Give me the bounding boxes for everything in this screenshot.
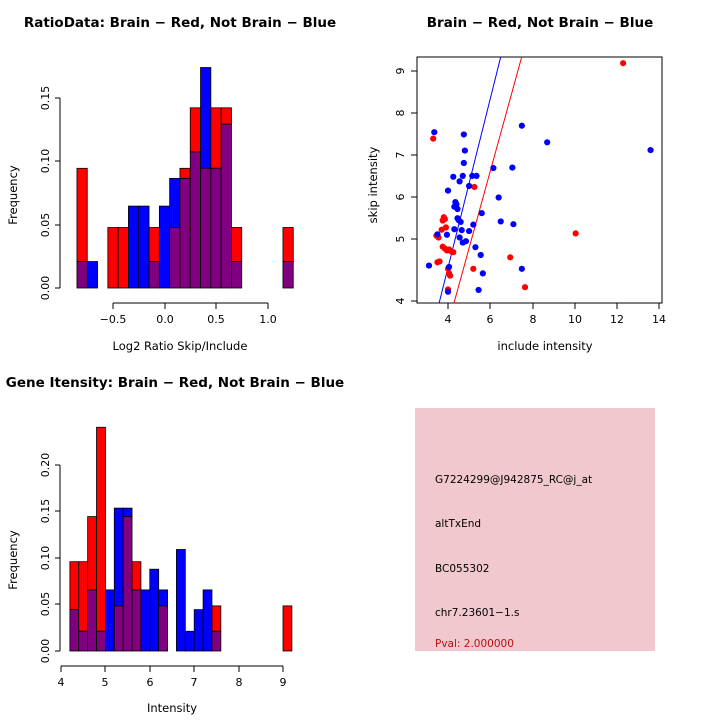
panel-scatter: Brain − Red, Not Brain − Blue 4 5 6 7 8 … — [360, 0, 720, 360]
histogram-bar-overlap — [77, 262, 87, 288]
gene-ytick-1: 0.05 — [39, 592, 52, 617]
histogram-bar-overlap — [114, 606, 123, 651]
regression-line — [453, 53, 523, 306]
histogram-bar — [79, 562, 88, 632]
histogram-bar-overlap — [180, 178, 190, 288]
scatter-ytick-8: 8 — [394, 110, 407, 117]
histogram-bar — [123, 508, 132, 516]
probe-id-text: G7224299@J942875_RC@j_at — [435, 474, 592, 486]
figure-page: RatioData: Brain − Red, Not Brain − Blue… — [0, 0, 720, 720]
histogram-bar — [128, 206, 138, 288]
scatter-point — [439, 227, 445, 233]
histogram-bar-overlap — [221, 124, 231, 288]
scatter-point — [509, 165, 515, 171]
gene-ytick-2: 0.10 — [39, 546, 52, 571]
scatter-point — [480, 270, 486, 276]
gene-histogram-ylabel: Frequency — [6, 530, 20, 590]
scatter-point — [434, 259, 440, 265]
histogram-bar — [212, 606, 221, 631]
scatter-ytick-7: 7 — [394, 152, 407, 159]
gene-xtick-8: 8 — [236, 676, 243, 689]
scatter-point — [475, 287, 481, 293]
scatter-ylabel: skip intensity — [366, 146, 380, 223]
histogram-bar-overlap — [79, 631, 88, 651]
gene-histogram-bars — [70, 427, 292, 651]
scatter-point — [466, 228, 472, 234]
gene-histogram-y-axis: 0.00 0.05 0.10 0.15 0.20 Frequency — [6, 453, 60, 664]
ratio-histogram-title: RatioData: Brain − Red, Not Brain − Blue — [24, 15, 336, 31]
histogram-bar-overlap — [170, 228, 180, 288]
scatter-xtick-10: 10 — [568, 313, 582, 326]
ratio-histogram-bars — [77, 68, 293, 289]
histogram-bar-overlap — [283, 262, 293, 288]
scatter-xtick-4: 4 — [445, 313, 452, 326]
scatter-point — [466, 183, 472, 189]
scatter-point — [454, 206, 460, 212]
pval-text: Pval: 2.000000 — [435, 638, 514, 650]
gene-ytick-3: 0.15 — [39, 499, 52, 524]
scatter-point — [460, 173, 466, 179]
histogram-bar — [114, 508, 123, 606]
scatter-point — [470, 266, 476, 272]
histogram-bar — [139, 206, 149, 288]
scatter-point — [461, 160, 467, 166]
scatter-point — [462, 147, 468, 153]
histogram-bar — [231, 228, 241, 262]
scatter-point — [459, 227, 465, 233]
gene-ytick-4: 0.20 — [39, 453, 52, 478]
scatter-point — [498, 218, 504, 224]
ratio-histogram-ylabel: Frequency — [6, 165, 20, 225]
histogram-bar — [118, 228, 128, 288]
histogram-bar — [141, 590, 150, 651]
scatter-point — [522, 284, 528, 290]
scatter-point — [478, 252, 484, 258]
scatter-xtick-12: 12 — [610, 313, 624, 326]
scatter-ytick-5: 5 — [394, 236, 407, 243]
histogram-bar — [283, 606, 292, 651]
histogram-bar — [149, 228, 159, 262]
histogram-bar-overlap — [159, 606, 168, 651]
ratio-histogram-x-axis: −0.5 0.0 0.5 1.0 Log2 Ratio Skip/Include — [100, 303, 277, 353]
ratio-histogram-svg: RatioData: Brain − Red, Not Brain − Blue… — [0, 0, 360, 360]
histogram-bar — [180, 168, 190, 178]
scatter-xlabel: include intensity — [497, 339, 592, 353]
scatter-point — [450, 174, 456, 180]
gene-histogram-xlabel: Intensity — [147, 701, 197, 715]
histogram-bar — [132, 562, 141, 590]
histogram-bar — [194, 610, 203, 651]
scatter-title: Brain − Red, Not Brain − Blue — [427, 15, 653, 31]
scatter-point — [431, 129, 437, 135]
scatter-ytick-6: 6 — [394, 194, 407, 201]
ratio-xtick-0: −0.5 — [100, 313, 127, 326]
histogram-bar — [190, 108, 200, 152]
histogram-bar-overlap — [88, 590, 97, 651]
histogram-bar — [88, 517, 97, 590]
scatter-point — [460, 239, 466, 245]
histogram-bar-overlap — [190, 152, 200, 288]
histogram-bar — [77, 168, 87, 261]
ratio-ytick-1: 0.05 — [39, 213, 52, 238]
histogram-bar-overlap — [97, 631, 106, 651]
scatter-data-layer — [426, 53, 654, 306]
histogram-bar — [70, 562, 79, 610]
scatter-point — [507, 254, 513, 260]
scatter-point — [647, 147, 653, 153]
histogram-bar — [201, 68, 211, 169]
histogram-bar — [283, 228, 293, 262]
scatter-ytick-4: 4 — [394, 298, 407, 305]
panel-ratio-histogram: RatioData: Brain − Red, Not Brain − Blue… — [0, 0, 360, 360]
scatter-point — [445, 188, 451, 194]
scatter-point — [458, 219, 464, 225]
histogram-bar-overlap — [70, 610, 79, 651]
scatter-point — [519, 123, 525, 129]
histogram-bar-overlap — [212, 631, 221, 651]
scatter-point — [519, 266, 525, 272]
gene-histogram-title: Gene Itensity: Brain − Red, Not Brain − … — [6, 375, 344, 391]
scatter-point — [510, 221, 516, 227]
scatter-point — [457, 178, 463, 184]
ratio-ytick-3: 0.15 — [39, 86, 52, 111]
scatter-point — [450, 249, 456, 255]
gene-xtick-7: 7 — [191, 676, 198, 689]
scatter-point — [445, 289, 451, 295]
scatter-point — [434, 231, 440, 237]
event-type-text: altTxEnd — [435, 518, 481, 530]
histogram-bar — [150, 569, 159, 651]
ratio-xtick-3: 1.0 — [259, 313, 277, 326]
ratio-ytick-0: 0.00 — [39, 276, 52, 301]
scatter-point — [426, 262, 432, 268]
scatter-point — [444, 232, 450, 238]
histogram-bar — [185, 631, 194, 651]
histogram-bar — [221, 108, 231, 124]
ratio-histogram-y-axis: 0.00 0.05 0.10 0.15 Frequency — [6, 86, 60, 301]
gene-xtick-6: 6 — [147, 676, 154, 689]
scatter-point — [573, 230, 579, 236]
histogram-bar — [176, 549, 185, 651]
gene-xtick-5: 5 — [102, 676, 109, 689]
gene-xtick-9: 9 — [280, 676, 287, 689]
gene-histogram-svg: Gene Itensity: Brain − Red, Not Brain − … — [0, 360, 360, 720]
histogram-bar — [159, 206, 169, 288]
histogram-bar-overlap — [201, 168, 211, 288]
scatter-point — [461, 131, 467, 137]
histogram-bar — [211, 108, 221, 168]
gene-histogram-x-axis: 4 5 6 7 8 9 Intensity — [58, 666, 287, 715]
scatter-point — [471, 184, 477, 190]
ratio-histogram-xlabel: Log2 Ratio Skip/Include — [113, 339, 248, 353]
scatter-xtick-8: 8 — [530, 313, 537, 326]
histogram-bar — [105, 590, 114, 651]
gene-info-panel: G7224299@J942875_RC@j_at altTxEnd BC0553… — [415, 408, 655, 651]
ratio-ytick-2: 0.10 — [39, 149, 52, 174]
ratio-xtick-1: 0.0 — [156, 313, 174, 326]
histogram-bar — [97, 427, 106, 631]
scatter-point — [473, 173, 479, 179]
scatter-point — [440, 217, 446, 223]
gene-ytick-0: 0.00 — [39, 639, 52, 664]
histogram-bar — [170, 178, 180, 227]
histogram-bar-overlap — [132, 590, 141, 651]
locus-text: chr7.23601−1.s — [435, 607, 519, 619]
scatter-xtick-14: 14 — [652, 313, 666, 326]
histogram-bar-overlap — [123, 517, 132, 651]
ratio-xtick-2: 0.5 — [207, 313, 225, 326]
scatter-point — [446, 264, 452, 270]
histogram-bar-overlap — [211, 168, 221, 288]
scatter-plot-frame — [417, 57, 662, 303]
scatter-point — [451, 226, 457, 232]
scatter-svg: Brain − Red, Not Brain − Blue 4 5 6 7 8 … — [360, 0, 720, 360]
scatter-point — [430, 136, 436, 142]
gene-xtick-4: 4 — [58, 676, 65, 689]
accession-text: BC055302 — [435, 563, 489, 575]
histogram-bar — [108, 228, 118, 288]
scatter-point — [544, 139, 550, 145]
scatter-xtick-6: 6 — [487, 313, 494, 326]
scatter-point — [447, 273, 453, 279]
panel-gene-histogram: Gene Itensity: Brain − Red, Not Brain − … — [0, 360, 360, 720]
scatter-point — [472, 244, 478, 250]
scatter-point — [496, 194, 502, 200]
scatter-x-axis: 4 6 8 10 12 14 include intensity — [445, 303, 667, 353]
scatter-ytick-9: 9 — [394, 68, 407, 75]
histogram-bar — [159, 590, 168, 606]
scatter-point — [470, 222, 476, 228]
histogram-bar — [203, 590, 212, 651]
scatter-point — [479, 210, 485, 216]
scatter-point — [620, 60, 626, 66]
histogram-bar — [87, 262, 97, 288]
scatter-y-axis: 4 5 6 7 8 9 skip intensity — [366, 68, 417, 305]
scatter-point — [490, 165, 496, 171]
histogram-bar-overlap — [149, 262, 159, 288]
histogram-bar-overlap — [231, 262, 241, 288]
